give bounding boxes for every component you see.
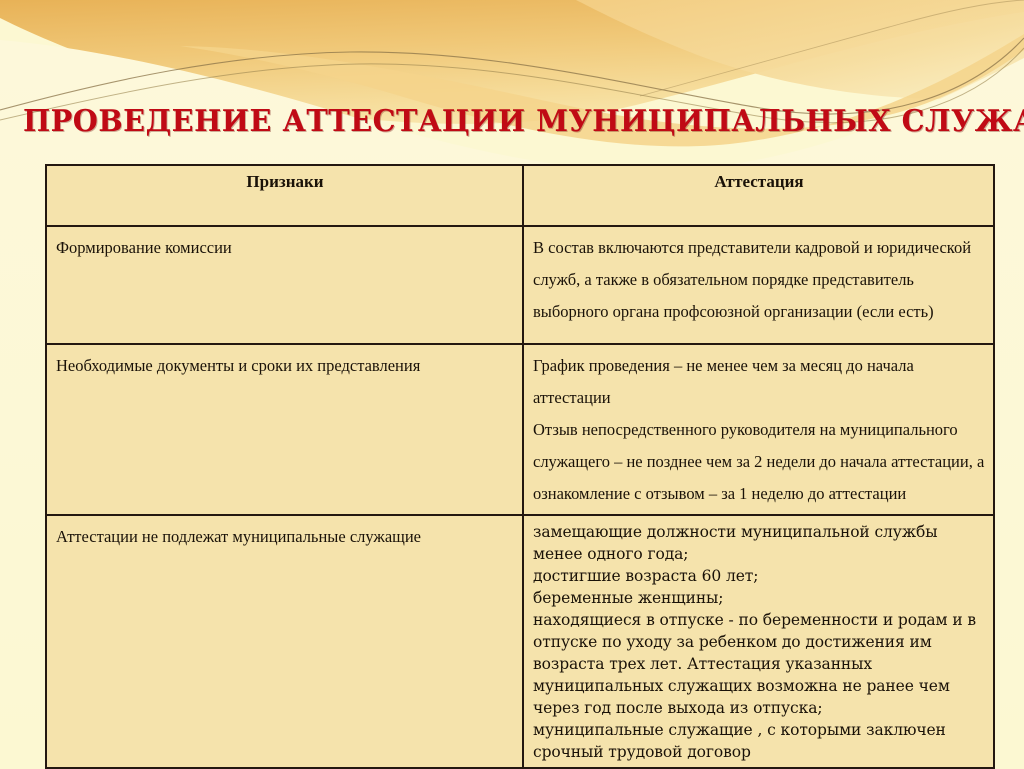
cell-paragraph: беременные женщины;: [533, 587, 985, 609]
page-title-bar: ПРОВЕДЕНИЕ АТТЕСТАЦИИ МУНИЦИПАЛЬНЫХ СЛУЖ…: [0, 104, 1024, 140]
cell-signs-1: Формирование комиссии: [46, 226, 523, 344]
column-header-attestation: Аттестация: [523, 165, 994, 226]
attestation-table: Признаки Аттестация Формирование комисси…: [45, 164, 995, 769]
table-row: Формирование комиссии В состав включаютс…: [46, 226, 994, 344]
cell-paragraph: находящиеся в отпуске - по беременности …: [533, 609, 985, 719]
cell-paragraph: В состав включаются представители кадров…: [533, 232, 985, 328]
cell-signs-3: Аттестации не подлежат муниципальные слу…: [46, 515, 523, 768]
table-row: Необходимые документы и сроки их предста…: [46, 344, 994, 515]
cell-attestation-2: График проведения – не менее чем за меся…: [523, 344, 994, 515]
cell-paragraph: муниципальные служащие , с которыми закл…: [533, 719, 985, 763]
cell-paragraph: замещающие должности муниципальной служб…: [533, 521, 985, 565]
cell-signs-2: Необходимые документы и сроки их предста…: [46, 344, 523, 515]
table-row: Аттестации не подлежат муниципальные слу…: [46, 515, 994, 768]
cell-paragraph: График проведения – не менее чем за меся…: [533, 350, 985, 414]
column-header-signs: Признаки: [46, 165, 523, 226]
cell-paragraph: достигшие возраста 60 лет;: [533, 565, 985, 587]
cell-paragraph: Отзыв непосредственного руководителя на …: [533, 414, 985, 510]
page-title: ПРОВЕДЕНИЕ АТТЕСТАЦИИ МУНИЦИПАЛЬНЫХ СЛУЖ…: [23, 104, 1024, 140]
cell-attestation-1: В состав включаются представители кадров…: [523, 226, 994, 344]
table-header-row: Признаки Аттестация: [46, 165, 994, 226]
cell-attestation-3: замещающие должности муниципальной служб…: [523, 515, 994, 768]
